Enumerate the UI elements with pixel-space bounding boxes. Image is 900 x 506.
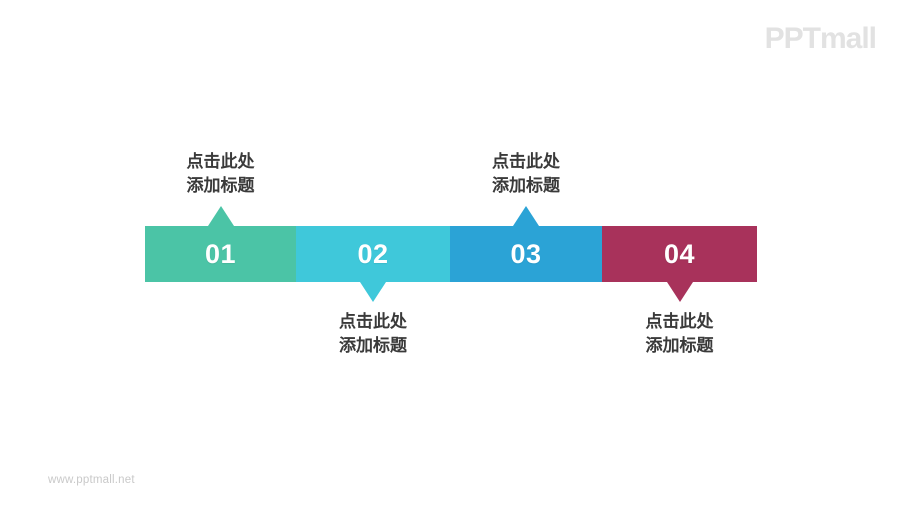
footer-website-url: www.pptmall.net bbox=[48, 474, 135, 486]
slide-canvas: PPTmall 01点击此处 添加标题02点击此处 添加标题03点击此处 添加标… bbox=[0, 0, 900, 506]
caption-02[interactable]: 点击此处 添加标题 bbox=[278, 310, 468, 358]
segment-number-04: 04 bbox=[664, 241, 695, 268]
pointer-down-icon-04 bbox=[667, 282, 693, 302]
timeline-segment-02[interactable]: 02点击此处 添加标题 bbox=[296, 226, 450, 282]
pointer-down-icon-02 bbox=[360, 282, 386, 302]
caption-03[interactable]: 点击此处 添加标题 bbox=[431, 150, 621, 198]
caption-04[interactable]: 点击此处 添加标题 bbox=[585, 310, 775, 358]
pointer-up-icon-01 bbox=[208, 206, 234, 226]
timeline-segment-04[interactable]: 04点击此处 添加标题 bbox=[602, 226, 757, 282]
caption-01[interactable]: 点击此处 添加标题 bbox=[126, 150, 316, 198]
pointer-up-icon-03 bbox=[513, 206, 539, 226]
timeline-segment-03[interactable]: 03点击此处 添加标题 bbox=[450, 226, 602, 282]
timeline-bar: 01点击此处 添加标题02点击此处 添加标题03点击此处 添加标题04点击此处 … bbox=[145, 226, 757, 282]
segment-number-03: 03 bbox=[510, 241, 541, 268]
timeline-segment-01[interactable]: 01点击此处 添加标题 bbox=[145, 226, 296, 282]
segment-number-01: 01 bbox=[205, 241, 236, 268]
pptmall-logo: PPTmall bbox=[765, 24, 876, 54]
segment-number-02: 02 bbox=[357, 241, 388, 268]
